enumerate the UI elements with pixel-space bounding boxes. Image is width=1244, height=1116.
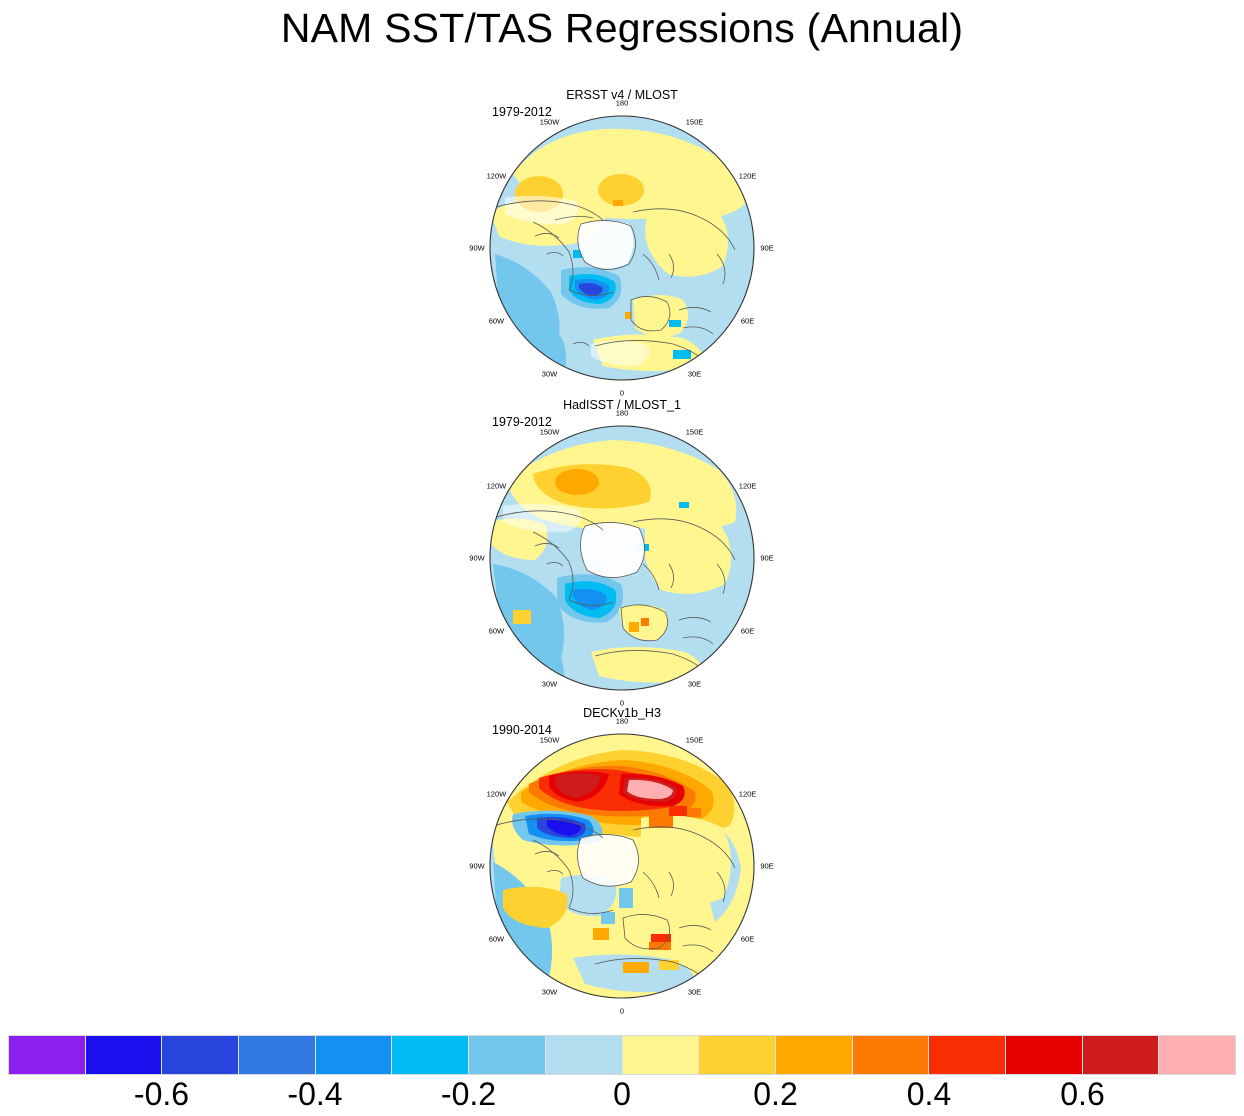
colorbar-band-7 — [546, 1036, 623, 1074]
longitude-label-30W: 30W — [542, 369, 557, 378]
colorbar-band-5 — [392, 1036, 469, 1074]
map-field — [490, 116, 754, 380]
longitude-label-150W: 150W — [540, 428, 560, 437]
longitude-label-120E: 120E — [739, 171, 757, 180]
colorbar-tick-0.6: 0.6 — [1060, 1078, 1104, 1110]
longitude-label-150E: 150E — [686, 118, 704, 127]
polar-map-svg — [473, 104, 771, 392]
colorbar-bands[interactable] — [8, 1035, 1236, 1075]
longitude-label-150W: 150W — [540, 736, 560, 745]
longitude-label-60E: 60E — [741, 934, 754, 943]
longitude-label-180: 180 — [616, 409, 629, 418]
polar-map-0[interactable]: 180150E120E90E60E30E030W60W90W120W150W — [473, 104, 771, 392]
polar-map-1[interactable]: 180150E120E90E60E30E030W60W90W120W150W — [473, 414, 771, 702]
longitude-label-90E: 90E — [760, 554, 773, 563]
longitude-label-60W: 60W — [489, 934, 504, 943]
longitude-label-60E: 60E — [741, 626, 754, 635]
longitude-label-150E: 150E — [686, 428, 704, 437]
polar-map-svg — [473, 722, 771, 1010]
longitude-label-90E: 90E — [760, 244, 773, 253]
longitude-label-30E: 30E — [688, 369, 701, 378]
longitude-label-30W: 30W — [542, 679, 557, 688]
colorbar-band-13 — [1006, 1036, 1083, 1074]
colorbar-tick--0.4: -0.4 — [287, 1078, 342, 1110]
colorbar-band-8 — [623, 1036, 700, 1074]
colorbar-band-14 — [1083, 1036, 1160, 1074]
longitude-label-30W: 30W — [542, 987, 557, 996]
longitude-label-90E: 90E — [760, 862, 773, 871]
colorbar-band-11 — [853, 1036, 930, 1074]
colorbar-tick--0.2: -0.2 — [441, 1078, 496, 1110]
colorbar-tick--0.6: -0.6 — [134, 1078, 189, 1110]
longitude-label-90W: 90W — [469, 244, 484, 253]
longitude-label-60W: 60W — [489, 316, 504, 325]
map-field — [489, 734, 754, 998]
longitude-label-90W: 90W — [469, 862, 484, 871]
colorbar-band-0 — [9, 1036, 86, 1074]
longitude-label-120W: 120W — [487, 481, 507, 490]
colorbar-band-1 — [86, 1036, 163, 1074]
longitude-label-120E: 120E — [739, 481, 757, 490]
colorbar-tick-0: 0 — [613, 1078, 631, 1110]
longitude-label-120E: 120E — [739, 789, 757, 798]
colorbar-band-10 — [776, 1036, 853, 1074]
longitude-label-60E: 60E — [741, 316, 754, 325]
colorbar: -0.6-0.4-0.200.20.40.6 — [0, 1032, 1244, 1116]
polar-map-svg — [473, 414, 771, 702]
colorbar-band-6 — [469, 1036, 546, 1074]
longitude-label-180: 180 — [616, 717, 629, 726]
colorbar-band-12 — [929, 1036, 1006, 1074]
polar-map-2[interactable]: 180150E120E90E60E30E030W60W90W120W150W — [473, 722, 771, 1010]
colorbar-band-3 — [239, 1036, 316, 1074]
longitude-label-30E: 30E — [688, 679, 701, 688]
page-title: NAM SST/TAS Regressions (Annual) — [0, 6, 1244, 51]
longitude-label-150E: 150E — [686, 736, 704, 745]
longitude-label-0: 0 — [620, 389, 624, 398]
colorbar-band-9 — [699, 1036, 776, 1074]
colorbar-band-15 — [1159, 1036, 1235, 1074]
colorbar-tick-0.4: 0.4 — [907, 1078, 951, 1110]
longitude-label-150W: 150W — [540, 118, 560, 127]
colorbar-band-4 — [316, 1036, 393, 1074]
colorbar-band-2 — [162, 1036, 239, 1074]
colorbar-tick-labels: -0.6-0.4-0.200.20.40.6 — [8, 1078, 1236, 1114]
longitude-label-180: 180 — [616, 99, 629, 108]
colorbar-tick-0.2: 0.2 — [753, 1078, 797, 1110]
longitude-label-30E: 30E — [688, 987, 701, 996]
longitude-label-60W: 60W — [489, 626, 504, 635]
longitude-label-120W: 120W — [487, 789, 507, 798]
longitude-label-90W: 90W — [469, 554, 484, 563]
longitude-label-0: 0 — [620, 1007, 624, 1016]
longitude-label-120W: 120W — [487, 171, 507, 180]
